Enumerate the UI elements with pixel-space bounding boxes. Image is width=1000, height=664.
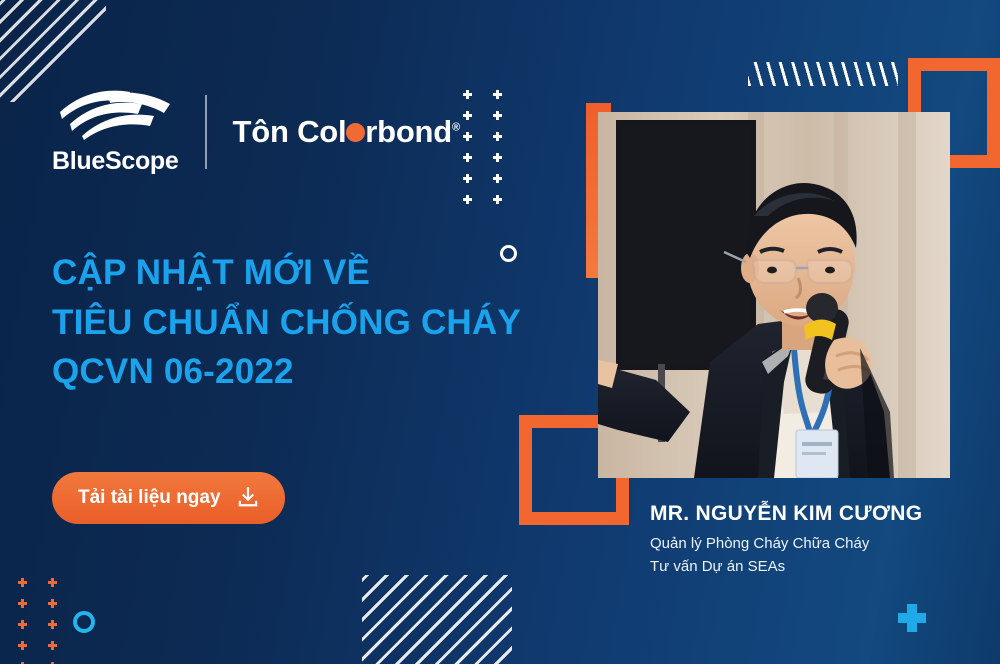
download-icon xyxy=(235,485,261,511)
headline-line-3: QCVN 06-2022 xyxy=(52,347,521,397)
colorbond-suffix: rbond xyxy=(365,114,452,149)
plus-cyan-icon xyxy=(898,604,926,632)
speaker-name: MR. NGUYỄN KIM CƯƠNG xyxy=(650,502,922,526)
speaker-role-line-2: Tư vấn Dự án SEAs xyxy=(650,556,922,579)
download-cta-label: Tải tài liệu ngay xyxy=(78,487,221,509)
download-cta-button[interactable]: Tải tài liệu ngay xyxy=(52,472,285,524)
speaker-photo xyxy=(598,112,950,478)
speaker-role: Quản lý Phòng Cháy Chữa Cháy Tư vấn Dự á… xyxy=(650,533,922,578)
bluescope-wordmark: BlueScope xyxy=(52,147,179,176)
headline-line-2: TIÊU CHUẨN CHỐNG CHÁY xyxy=(52,298,521,348)
colorbond-wordmark: Tôn Colorbond® xyxy=(233,114,460,150)
tick-marks-top-right-icon xyxy=(748,62,898,86)
logo-divider xyxy=(205,95,207,169)
bluescope-logo: BlueScope xyxy=(52,88,179,176)
diagonal-lines-top-left-icon xyxy=(0,0,106,102)
colorbond-orange-o: o xyxy=(346,114,365,149)
speaker-role-line-1: Quản lý Phòng Cháy Chữa Cháy xyxy=(650,533,922,556)
speaker-photo-image xyxy=(598,112,950,478)
plus-grid-orange-icon xyxy=(18,578,78,664)
promo-banner: BlueScope Tôn Colorbond® CẬP NHẬT MỚI VỀ… xyxy=(0,0,1000,664)
speaker-caption: MR. NGUYỄN KIM CƯƠNG Quản lý Phòng Cháy … xyxy=(650,502,922,578)
colorbond-prefix: Tôn Col xyxy=(233,114,347,149)
ring-cyan-icon xyxy=(73,611,95,633)
plus-grid-white-icon xyxy=(463,90,523,216)
headline: CẬP NHẬT MỚI VỀ TIÊU CHUẨN CHỐNG CHÁY QC… xyxy=(52,248,521,397)
headline-line-1: CẬP NHẬT MỚI VỀ xyxy=(52,248,521,298)
logo-lockup: BlueScope Tôn Colorbond® xyxy=(52,88,460,176)
registered-mark-icon: ® xyxy=(452,122,460,134)
diagonal-lines-bottom-center-icon xyxy=(362,575,512,664)
bluescope-mark-icon xyxy=(56,88,174,140)
